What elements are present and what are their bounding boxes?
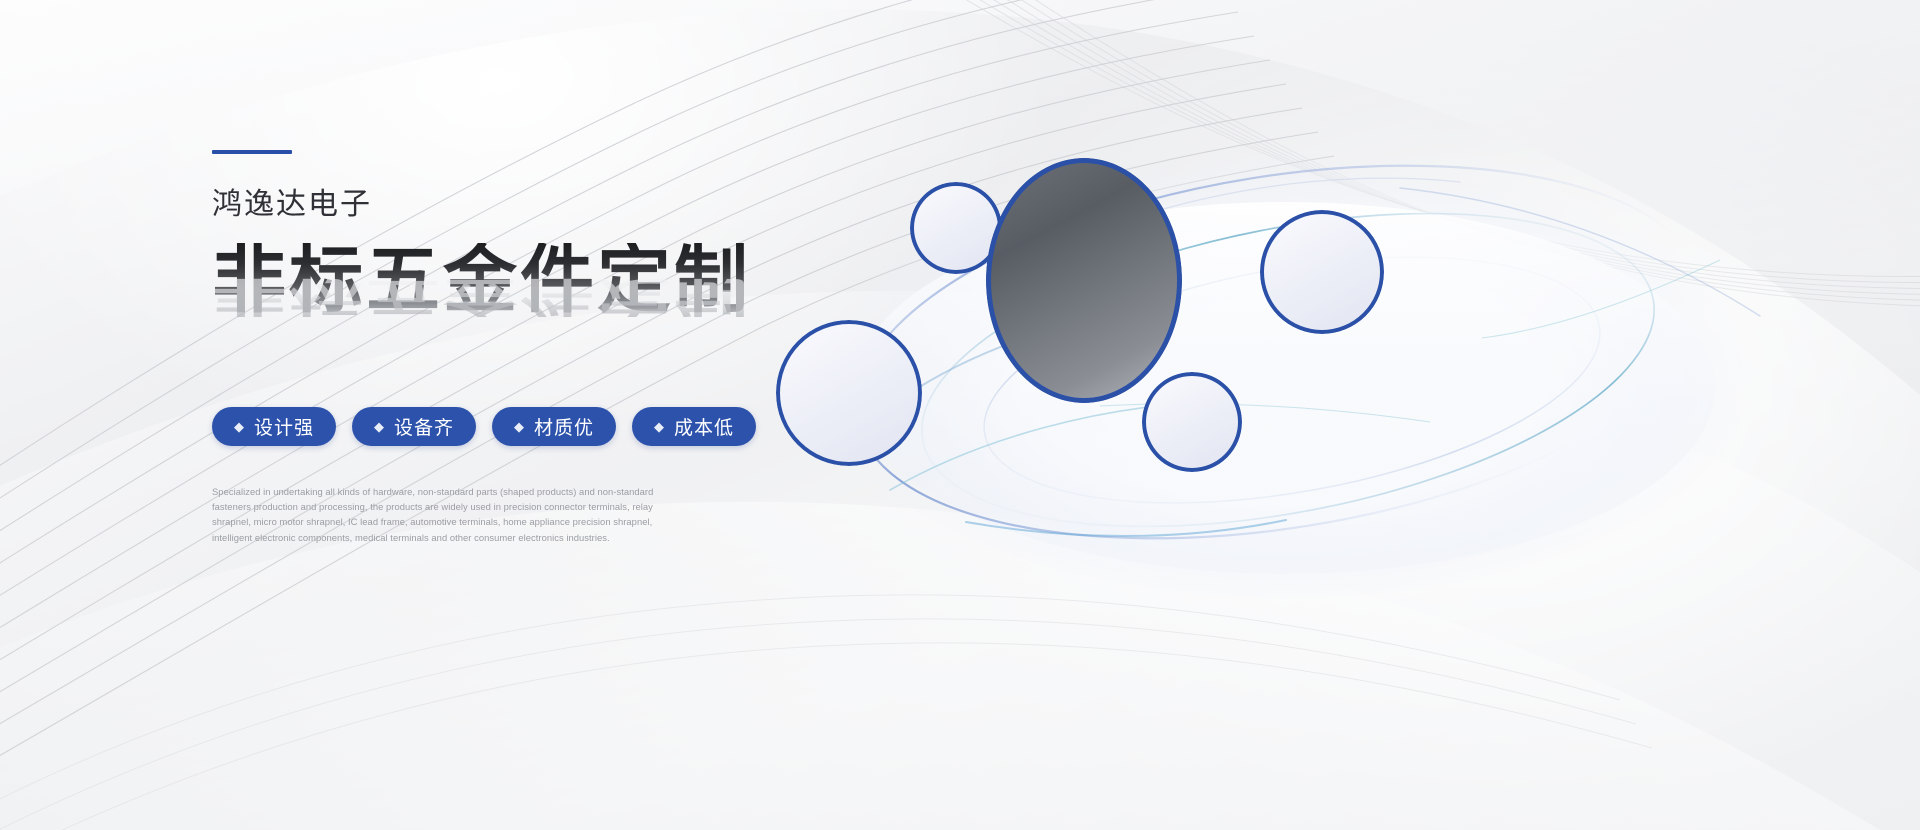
diamond-icon: ◆ <box>514 420 525 433</box>
feature-pill-label: 设计强 <box>254 413 314 440</box>
headline-reflection: 非标五金件定制 <box>212 276 751 317</box>
feature-pill-material[interactable]: ◆ 材质优 <box>492 407 616 446</box>
feature-pill-label: 成本低 <box>674 413 734 440</box>
feature-pill-label: 设备齐 <box>394 413 454 440</box>
description-paragraph: Specialized in undertaking all kinds of … <box>212 484 682 545</box>
node-ring-border <box>1142 372 1242 472</box>
feature-pill-label: 材质优 <box>534 413 594 440</box>
node-ring-border <box>986 158 1182 403</box>
diamond-icon: ◆ <box>654 420 665 433</box>
node-retaining-ring[interactable] <box>1260 210 1384 334</box>
node-battery-clamp[interactable] <box>776 320 922 466</box>
diamond-icon: ◆ <box>374 420 385 433</box>
feature-pill-cost[interactable]: ◆ 成本低 <box>632 407 756 446</box>
node-bent-terminals[interactable] <box>1142 372 1242 472</box>
feature-pill-equipment[interactable]: ◆ 设备齐 <box>352 407 476 446</box>
node-ring-border <box>776 320 922 466</box>
product-visual-composition <box>740 70 1840 630</box>
feature-pill-design[interactable]: ◆ 设计强 <box>212 407 336 446</box>
node-main-machined-parts[interactable] <box>986 158 1182 403</box>
accent-rule-divider <box>212 150 292 154</box>
diamond-icon: ◆ <box>234 420 245 433</box>
node-ring-border <box>1260 210 1384 334</box>
hero-banner: 鸿逸达电子 非标五金件定制 非标五金件定制 ◆ 设计强 ◆ 设备齐 ◆ 材质优 … <box>0 0 1920 830</box>
